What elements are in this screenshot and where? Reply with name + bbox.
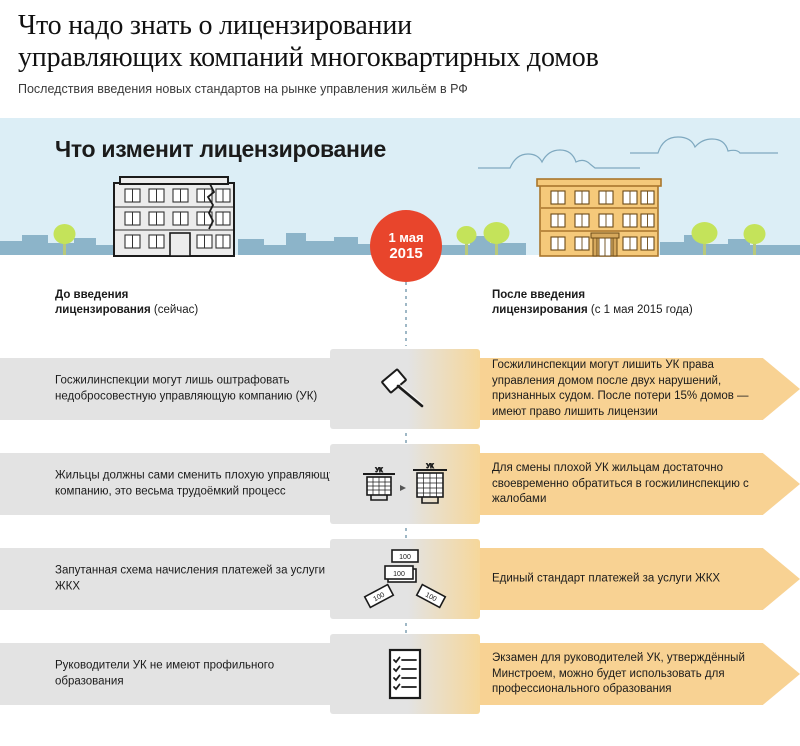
gray-building-icon <box>112 175 236 257</box>
before-band: Запутанная схема начисления платежей за … <box>0 548 372 610</box>
comparison-row: Жильцы должны сами сменить плохую управл… <box>0 444 800 524</box>
before-band: Госжилинспекции могут лишь оштрафовать н… <box>0 358 372 420</box>
tree-icon <box>482 219 512 255</box>
column-header-before: До введения лицензирования (сейчас) <box>55 288 198 318</box>
icon-label-uk-small: УК <box>375 468 383 474</box>
before-band: Жильцы должны сами сменить плохую управл… <box>0 453 372 515</box>
after-text: Экзамен для руководителей УК, утверждённ… <box>492 651 760 698</box>
after-band: Экзамен для руководителей УК, утверждённ… <box>462 643 800 705</box>
before-text: Запутанная схема начисления платежей за … <box>55 564 345 595</box>
row-icon-box <box>330 349 480 429</box>
header-after-note: (с 1 мая 2015 года) <box>588 304 693 316</box>
orange-building-icon <box>535 178 663 257</box>
before-text: Госжилинспекции могут лишь оштрафовать н… <box>55 374 345 405</box>
before-text: Жильцы должны сами сменить плохую управл… <box>55 469 345 500</box>
icon-label-uk-large: УК <box>426 464 434 470</box>
building-swap-icon: УК УК <box>359 459 451 509</box>
page-title: Что надо знать о лицензировании управляю… <box>18 10 788 74</box>
header-before-line2: лицензирования <box>55 304 151 316</box>
badge-day: 1 мая <box>388 230 423 245</box>
banknote-value: 100 <box>399 554 411 561</box>
after-text: Единый стандарт платежей за услуги ЖКХ <box>492 571 760 587</box>
header-before-line1: До введения <box>55 288 198 303</box>
page-subtitle: Последствия введения новых стандартов на… <box>18 82 788 96</box>
row-icon-box <box>330 634 480 714</box>
tree-icon <box>455 223 479 255</box>
header-before-note: (сейчас) <box>151 304 199 316</box>
banknote-value: 100 <box>393 571 405 578</box>
after-text: Госжилинспекции могут лишить УК права уп… <box>492 358 760 420</box>
banner-title: Что изменит лицензирование <box>55 136 386 163</box>
header-after-line2: лицензирования <box>492 304 588 316</box>
header-after-line1: После введения <box>492 288 693 303</box>
row-icon-box: УК УК <box>330 444 480 524</box>
row-icon-box: 100 100 100 100 <box>330 539 480 619</box>
infographic-page: Что надо знать о лицензировании управляю… <box>0 0 800 746</box>
title-line-2: управляющих компаний многоквартирных дом… <box>18 42 788 74</box>
before-text: Руководители УК не имеют профильного обр… <box>55 659 345 690</box>
after-band: Для смены плохой УК жильцам достаточно с… <box>462 453 800 515</box>
comparison-row: Руководители УК не имеют профильного обр… <box>0 634 800 714</box>
timeline-dots <box>405 282 407 346</box>
tree-icon <box>742 221 768 255</box>
after-band: Единый стандарт платежей за услуги ЖКХ <box>462 548 800 610</box>
after-text: Для смены плохой УК жильцам достаточно с… <box>492 461 760 508</box>
date-badge: 1 мая 2015 <box>370 210 442 282</box>
before-band: Руководители УК не имеют профильного обр… <box>0 643 372 705</box>
comparison-row: Госжилинспекции могут лишь оштрафовать н… <box>0 349 800 429</box>
banknotes-icon: 100 100 100 100 <box>362 546 448 612</box>
title-block: Что надо знать о лицензировании управляю… <box>18 10 788 96</box>
tree-icon <box>690 219 720 255</box>
comparison-row: Запутанная схема начисления платежей за … <box>0 539 800 619</box>
checklist-icon <box>383 647 427 701</box>
tree-icon <box>52 221 78 255</box>
after-band: Госжилинспекции могут лишить УК права уп… <box>462 358 800 420</box>
column-header-after: После введения лицензирования (с 1 мая 2… <box>492 288 693 318</box>
gavel-icon <box>378 362 432 416</box>
badge-year: 2015 <box>389 245 422 262</box>
title-line-1: Что надо знать о лицензировании <box>18 10 788 42</box>
